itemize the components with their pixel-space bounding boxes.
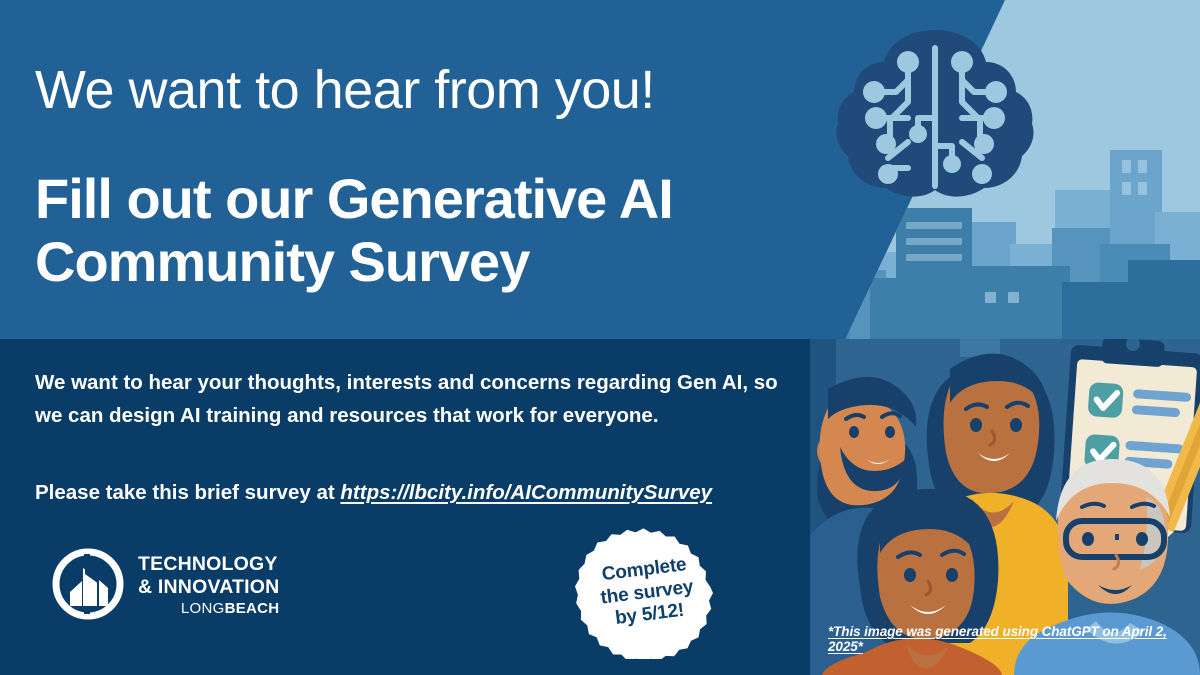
body-paragraph: We want to hear your thoughts, interests…: [35, 366, 795, 432]
survey-flyer: We want to hear from you! Fill out our G…: [0, 0, 1200, 675]
long-beach-city-mark-icon: [52, 548, 124, 620]
artwork-panel: [810, 0, 1200, 675]
building: [1128, 260, 1200, 340]
logo-line-2: & INNOVATION: [138, 578, 279, 598]
building-window: [1008, 292, 1019, 303]
image-disclaimer: *This image was generated using ChatGPT …: [828, 624, 1200, 654]
logo-wordmark: TECHNOLOGY & INNOVATION LONGBEACH: [138, 552, 279, 616]
building: [1062, 282, 1132, 340]
headline-line-1: Fill out our Generative AI: [35, 167, 673, 230]
building-window: [1122, 160, 1131, 173]
headline-line-2: Community Survey: [35, 230, 529, 293]
ai-brain-circuit-icon: [830, 18, 1040, 208]
building-window: [985, 292, 996, 303]
building-window: [906, 254, 962, 261]
page-title: Fill out our Generative AI Community Sur…: [35, 168, 673, 293]
logo-city-beach: BEACH: [225, 600, 280, 617]
building-window: [906, 222, 962, 229]
eyebrow-text: We want to hear from you!: [35, 62, 655, 119]
building-window: [1138, 182, 1147, 195]
cta-prefix: Please take this brief survey at: [35, 481, 340, 504]
building-window: [906, 238, 962, 245]
technology-innovation-logo: TECHNOLOGY & INNOVATION LONGBEACH: [52, 548, 279, 620]
building: [960, 266, 1070, 340]
building: [810, 284, 850, 340]
cta-line: Please take this brief survey at https:/…: [35, 481, 712, 505]
logo-city: LONGBEACH: [138, 601, 279, 616]
starburst-shape-icon: [571, 527, 723, 659]
survey-link[interactable]: https://lbcity.info/AICommunitySurvey: [340, 481, 712, 504]
building-window: [1138, 160, 1147, 173]
logo-city-long: LONG: [181, 600, 225, 617]
building-window: [1122, 182, 1131, 195]
deadline-badge: Complete the survey by 5/12!: [571, 527, 723, 659]
skyline-illustration: [810, 0, 1200, 340]
logo-line-1: TECHNOLOGY: [138, 555, 279, 575]
